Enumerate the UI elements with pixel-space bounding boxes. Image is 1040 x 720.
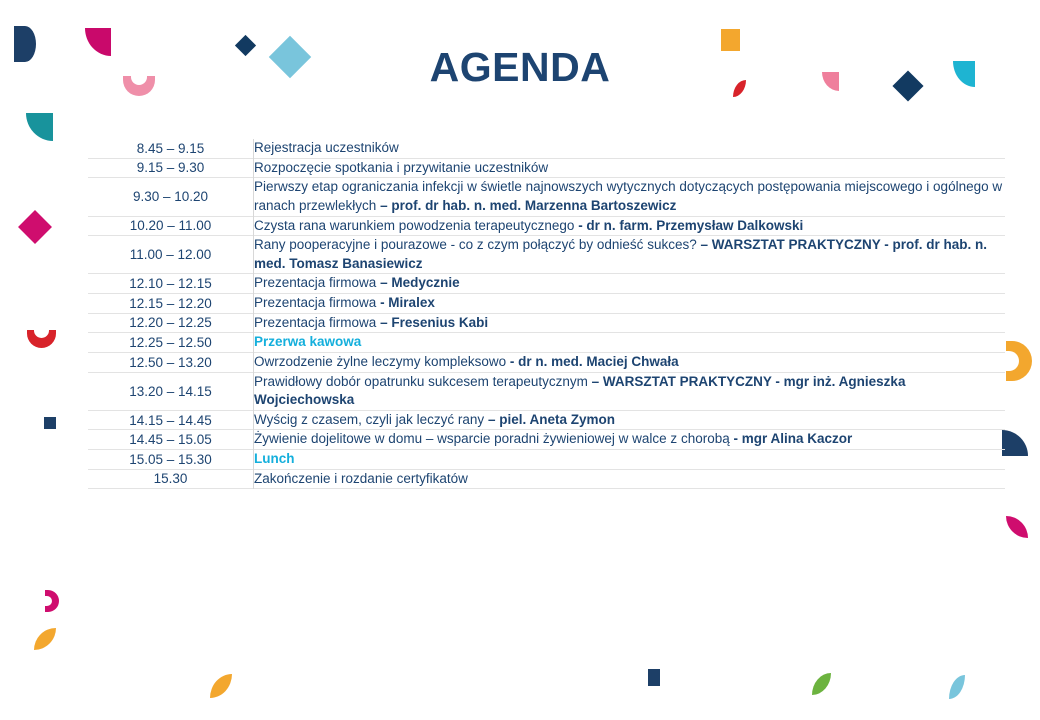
agenda-row-time: 9.30 – 10.20 (88, 178, 254, 216)
agenda-topic-text: Rany pooperacyjne i pourazowe - co z czy… (254, 237, 700, 252)
petal-orange-bottom-icon (210, 674, 232, 698)
agenda-row-time: 12.20 – 12.25 (88, 313, 254, 333)
agenda-row-time: 15.05 – 15.30 (88, 450, 254, 470)
agenda-speaker-text: - Miralex (380, 295, 435, 310)
agenda-row-description: Czysta rana warunkiem powodzenia terapeu… (254, 216, 1006, 236)
agenda-row-time: 12.25 – 12.50 (88, 333, 254, 353)
agenda-topic-text: Prezentacja firmowa (254, 315, 380, 330)
agenda-row: 13.20 – 14.15Prawidłowy dobór opatrunku … (88, 372, 1005, 410)
agenda-speaker-text: – Medycznie (380, 275, 460, 290)
agenda-row-time: 9.15 – 9.30 (88, 158, 254, 178)
agenda-topic-text: Rozpoczęcie spotkania i przywitanie ucze… (254, 160, 548, 175)
agenda-row-description: Pierwszy etap ograniczania infekcji w św… (254, 178, 1006, 216)
agenda-row-description: Zakończenie i rozdanie certyfikatów (254, 469, 1006, 489)
half-circle-magenta-icon (45, 590, 59, 612)
agenda-row-description: Żywienie dojelitowe w domu – wsparcie po… (254, 430, 1006, 450)
agenda-row: 14.15 – 14.45Wyścig z czasem, czyli jak … (88, 410, 1005, 430)
square-navy-bottom-icon (648, 669, 660, 686)
cup-red-icon (27, 330, 56, 348)
agenda-row-description: Prezentacja firmowa – Fresenius Kabi (254, 313, 1006, 333)
agenda-topic-text: Rejestracja uczestników (254, 140, 399, 155)
agenda-row: 10.20 – 11.00Czysta rana warunkiem powod… (88, 216, 1005, 236)
agenda-row-description: Prawidłowy dobór opatrunku sukcesem tera… (254, 372, 1006, 410)
agenda-row-description: Prezentacja firmowa – Medycznie (254, 274, 1006, 294)
agenda-row-time: 12.10 – 12.15 (88, 274, 254, 294)
petal-green-bottom-icon (812, 673, 831, 695)
agenda-row: 12.10 – 12.15Prezentacja firmowa – Medyc… (88, 274, 1005, 294)
agenda-topic-text: Czysta rana warunkiem powodzenia terapeu… (254, 218, 578, 233)
agenda-row: 14.45 – 15.05Żywienie dojelitowe w domu … (88, 430, 1005, 450)
agenda-topic-text: Prezentacja firmowa (254, 295, 380, 310)
agenda-row-description: Lunch (254, 450, 1006, 470)
agenda-row-time: 13.20 – 14.15 (88, 372, 254, 410)
c-shape-orange-icon (1006, 341, 1032, 381)
agenda-row-description: Prezentacja firmowa - Miralex (254, 294, 1006, 314)
agenda-topic-text: Prezentacja firmowa (254, 275, 380, 290)
petal-lightblue-bottom-icon (949, 675, 965, 699)
agenda-speaker-text: – piel. Aneta Zymon (488, 412, 615, 427)
agenda-row: 12.50 – 13.20Owrzodzenie żylne leczymy k… (88, 352, 1005, 372)
quarter-circle-teal-icon (26, 113, 53, 141)
agenda-row: 12.25 – 12.50Przerwa kawowa (88, 333, 1005, 353)
agenda-topic-text: Prawidłowy dobór opatrunku sukcesem tera… (254, 374, 592, 389)
quarter-circle-navy-icon (1002, 430, 1028, 456)
agenda-table: 8.45 – 9.15Rejestracja uczestników9.15 –… (88, 139, 1005, 489)
agenda-row-time: 14.45 – 15.05 (88, 430, 254, 450)
agenda-speaker-text: - mgr Alina Kaczor (733, 431, 852, 446)
agenda-row: 9.30 – 10.20Pierwszy etap ograniczania i… (88, 178, 1005, 216)
diamond-magenta-icon (18, 210, 52, 244)
agenda-speaker-text: – prof. dr hab. n. med. Marzenna Bartosz… (380, 198, 676, 213)
agenda-slide: AGENDA 8.45 – 9.15Rejestracja uczestnikó… (0, 0, 1040, 720)
petal-magenta-icon (1006, 516, 1028, 538)
agenda-row: 15.30Zakończenie i rozdanie certyfikatów (88, 469, 1005, 489)
agenda-row-description: Przerwa kawowa (254, 333, 1006, 353)
agenda-topic-text: Wyścig z czasem, czyli jak leczyć rany (254, 412, 488, 427)
agenda-break-text: Lunch (254, 451, 295, 466)
agenda-topic-text: Zakończenie i rozdanie certyfikatów (254, 471, 468, 486)
agenda-row: 11.00 – 12.00Rany pooperacyjne i pourazo… (88, 236, 1005, 274)
agenda-speaker-text: - dr n. med. Maciej Chwała (510, 354, 679, 369)
agenda-row-description: Rejestracja uczestników (254, 139, 1006, 158)
square-navy-small-icon (44, 417, 56, 429)
agenda-topic-text: Owrzodzenie żylne leczymy kompleksowo (254, 354, 510, 369)
agenda-row: 12.20 – 12.25Prezentacja firmowa – Frese… (88, 313, 1005, 333)
petal-orange-icon (34, 628, 56, 650)
page-title: AGENDA (0, 47, 1040, 88)
agenda-topic-text: Żywienie dojelitowe w domu – wsparcie po… (254, 431, 733, 446)
agenda-row-time: 15.30 (88, 469, 254, 489)
agenda-row: 9.15 – 9.30Rozpoczęcie spotkania i przyw… (88, 158, 1005, 178)
agenda-break-text: Przerwa kawowa (254, 334, 361, 349)
agenda-row: 8.45 – 9.15Rejestracja uczestników (88, 139, 1005, 158)
agenda-row-description: Wyścig z czasem, czyli jak leczyć rany –… (254, 410, 1006, 430)
agenda-row-time: 12.15 – 12.20 (88, 294, 254, 314)
agenda-speaker-text: – Fresenius Kabi (380, 315, 488, 330)
agenda-table-body: 8.45 – 9.15Rejestracja uczestników9.15 –… (88, 139, 1005, 489)
agenda-row-time: 8.45 – 9.15 (88, 139, 254, 158)
agenda-row-time: 14.15 – 14.45 (88, 410, 254, 430)
agenda-row-time: 10.20 – 11.00 (88, 216, 254, 236)
agenda-speaker-text: - dr n. farm. Przemysław Dalkowski (578, 218, 803, 233)
agenda-row-description: Rozpoczęcie spotkania i przywitanie ucze… (254, 158, 1006, 178)
agenda-row: 12.15 – 12.20Prezentacja firmowa - Miral… (88, 294, 1005, 314)
agenda-row: 15.05 – 15.30Lunch (88, 450, 1005, 470)
agenda-row-time: 12.50 – 13.20 (88, 352, 254, 372)
agenda-row-description: Rany pooperacyjne i pourazowe - co z czy… (254, 236, 1006, 274)
agenda-row-description: Owrzodzenie żylne leczymy kompleksowo - … (254, 352, 1006, 372)
agenda-row-time: 11.00 – 12.00 (88, 236, 254, 274)
